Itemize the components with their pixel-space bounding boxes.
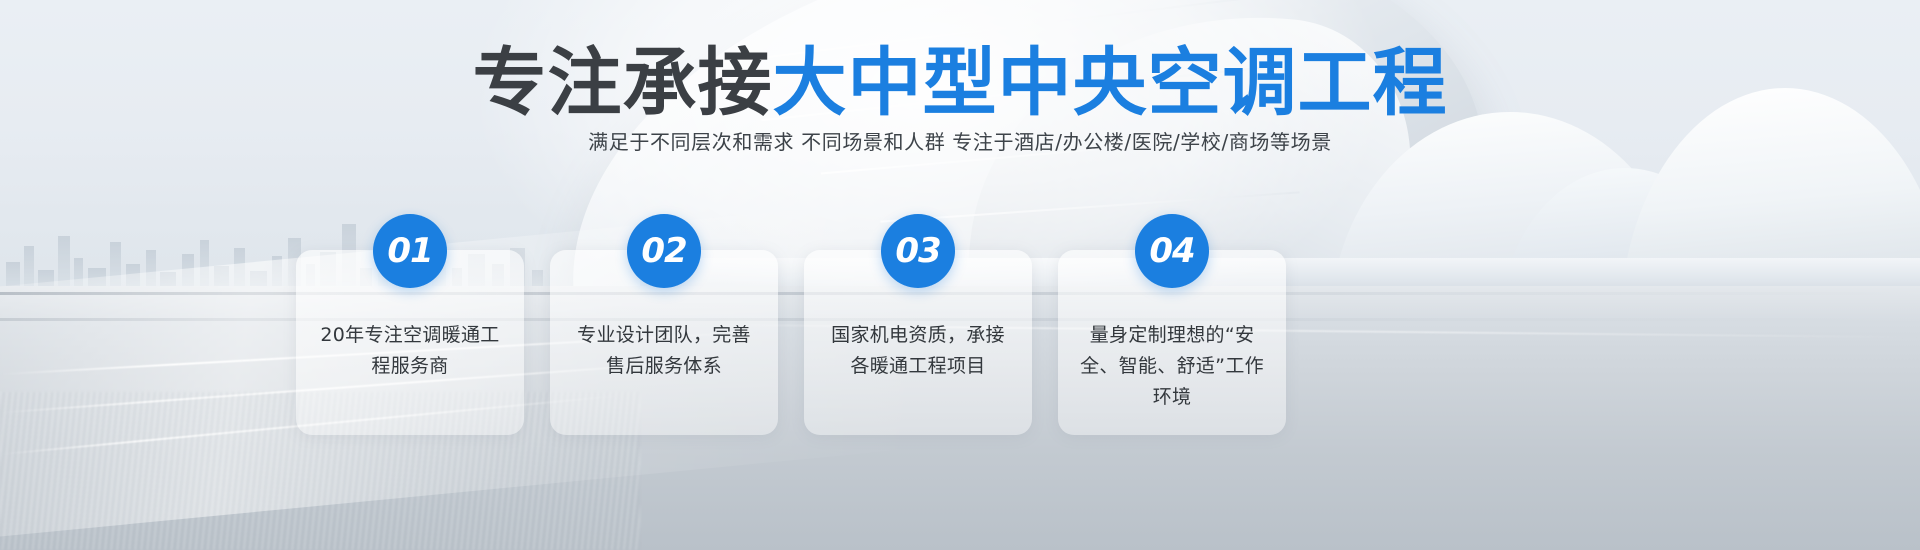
feature-number-badge: 01 bbox=[373, 214, 447, 288]
headline-accent: 大中型中央空调工程 bbox=[773, 40, 1448, 126]
page-title: 专注承接大中型中央空调工程 bbox=[0, 44, 1920, 122]
feature-card[interactable]: 03 国家机电资质，承接各暖通工程项目 bbox=[804, 250, 1032, 435]
page-subtitle: 满足于不同层次和需求 不同场景和人群 专注于酒店/办公楼/医院/学校/商场等场景 bbox=[0, 128, 1920, 156]
headline-lead: 专注承接 bbox=[473, 40, 773, 126]
feature-card[interactable]: 01 20年专注空调暖通工程服务商 bbox=[296, 250, 524, 435]
feature-number-badge: 03 bbox=[881, 214, 955, 288]
feature-card-text: 国家机电资质，承接各暖通工程项目 bbox=[822, 320, 1014, 382]
hero-banner: 专注承接大中型中央空调工程 满足于不同层次和需求 不同场景和人群 专注于酒店/办… bbox=[0, 0, 1920, 550]
feature-card-text: 专业设计团队，完善售后服务体系 bbox=[568, 320, 760, 382]
feature-card[interactable]: 04 量身定制理想的“安全、智能、舒适”工作环境 bbox=[1058, 250, 1286, 435]
feature-number-badge: 04 bbox=[1135, 214, 1209, 288]
feature-number-badge: 02 bbox=[627, 214, 701, 288]
feature-card-text: 20年专注空调暖通工程服务商 bbox=[314, 320, 506, 382]
feature-card-text: 量身定制理想的“安全、智能、舒适”工作环境 bbox=[1076, 320, 1268, 413]
banner-content: 专注承接大中型中央空调工程 满足于不同层次和需求 不同场景和人群 专注于酒店/办… bbox=[0, 0, 1920, 550]
feature-card[interactable]: 02 专业设计团队，完善售后服务体系 bbox=[550, 250, 778, 435]
feature-card-list: 01 20年专注空调暖通工程服务商 02 专业设计团队，完善售后服务体系 03 … bbox=[296, 250, 1526, 435]
